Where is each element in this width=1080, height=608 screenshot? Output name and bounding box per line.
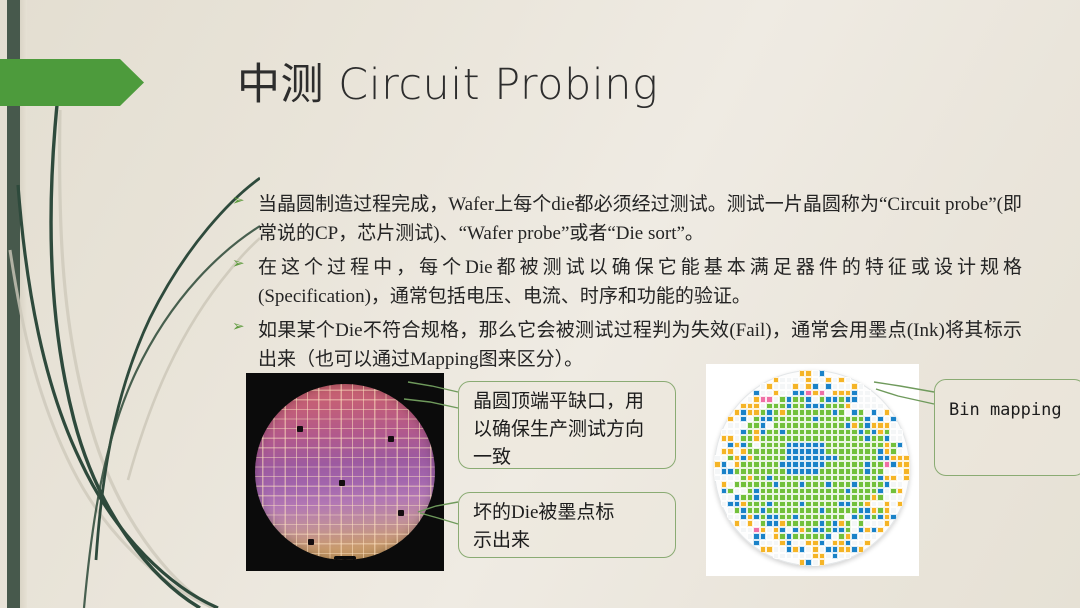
callout-wafer-notch[interactable]: 晶圆顶端平缺口，用 以确保生产测试方向 一致 <box>458 381 676 469</box>
bin-cell <box>760 416 767 423</box>
bin-cell <box>897 501 904 508</box>
bin-cell <box>890 416 897 423</box>
callout-ink-dot-text: 坏的Die被墨点标 示出来 <box>473 499 665 555</box>
bin-cell <box>805 416 812 423</box>
callout-wafer-notch-text: 晶圆顶端平缺口，用 以确保生产测试方向 一致 <box>473 388 665 472</box>
wafer-flat-notch <box>334 556 356 560</box>
ink-dot <box>388 436 394 442</box>
presentation-slide: 中测 Circuit Probing ➢ 当晶圆制造过程完成，Wafer上每个d… <box>0 0 1080 608</box>
bullet-item: ➢ 当晶圆制造过程完成，Wafer上每个die都必须经过测试。测试一片晶圆称为“… <box>232 190 1022 248</box>
bin-cell <box>877 527 884 534</box>
ink-dot <box>297 426 303 432</box>
wafer-die-grid <box>255 384 435 560</box>
bullet-text: 在这个过程中，每个Die都被测试以确保它能基本满足器件的特征或设计规格(Spec… <box>258 253 1022 311</box>
ink-dot <box>308 539 314 545</box>
bin-mapping-wafer <box>714 370 910 566</box>
bin-cell <box>890 514 897 521</box>
bin-cell <box>845 553 852 560</box>
page-title: 中测 Circuit Probing <box>237 50 658 112</box>
bin-cell <box>864 540 871 547</box>
callout-ink-dot[interactable]: 坏的Die被墨点标 示出来 <box>458 492 676 558</box>
bin-cell <box>903 475 910 482</box>
bin-cell <box>760 461 767 468</box>
bin-cell <box>858 514 865 521</box>
callout-bin-mapping[interactable]: Bin mapping <box>934 379 1080 476</box>
bullet-arrow-icon: ➢ <box>232 253 258 272</box>
bin-cell <box>805 461 812 468</box>
bin-cell <box>858 546 865 553</box>
bin-cell <box>884 520 891 527</box>
ink-dot <box>398 510 404 516</box>
bin-cell <box>903 461 910 468</box>
bullet-list: ➢ 当晶圆制造过程完成，Wafer上每个die都必须经过测试。测试一片晶圆称为“… <box>232 190 1022 379</box>
wafer-photograph <box>246 373 444 571</box>
bullet-arrow-icon: ➢ <box>232 190 258 209</box>
bin-cell <box>760 514 767 521</box>
bullet-item: ➢ 在这个过程中，每个Die都被测试以确保它能基本满足器件的特征或设计规格(Sp… <box>232 253 1022 311</box>
bin-cell <box>760 546 767 553</box>
bin-cell <box>871 533 878 540</box>
bin-mapping-panel <box>706 364 919 576</box>
bullet-text: 当晶圆制造过程完成，Wafer上每个die都必须经过测试。测试一片晶圆称为“Ci… <box>258 190 1022 248</box>
ink-dot <box>339 480 345 486</box>
wafer-disc <box>255 384 435 560</box>
bin-cell <box>858 461 865 468</box>
green-arrow-banner <box>0 59 146 106</box>
bin-cell <box>805 559 812 566</box>
bin-cell <box>805 514 812 521</box>
bullet-arrow-icon: ➢ <box>232 316 258 335</box>
callout-bin-mapping-text: Bin mapping <box>949 396 1077 424</box>
bin-cell <box>819 559 826 566</box>
bin-cell <box>858 416 865 423</box>
